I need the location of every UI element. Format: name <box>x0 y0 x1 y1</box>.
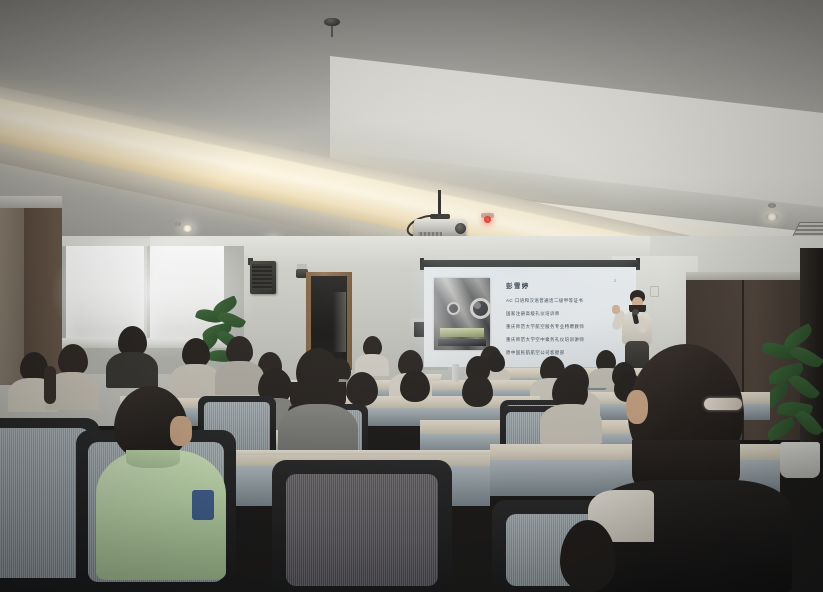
wood-column-cap <box>0 196 62 208</box>
projector-mount-pole <box>438 190 441 216</box>
attendee-head <box>346 372 378 406</box>
attendee-body <box>106 352 158 388</box>
microphone-head-icon <box>632 309 639 315</box>
wood-column-side <box>0 205 24 385</box>
attendee-ear <box>170 416 192 446</box>
attendee-green-polo <box>96 386 226 586</box>
screen-roller-housing <box>422 260 638 267</box>
chair[interactable] <box>272 460 452 592</box>
downlight-icon <box>175 222 181 226</box>
presenter-hand-raised <box>612 305 620 314</box>
sprinkler-icon <box>324 18 340 26</box>
attendee-head <box>462 374 493 407</box>
downlight-icon <box>182 225 193 232</box>
doorway-light <box>333 292 346 352</box>
attendee-head <box>400 370 430 402</box>
speaker-grille-icon <box>252 264 272 290</box>
water-bottle[interactable] <box>452 364 459 382</box>
attendee-ear <box>626 390 648 424</box>
conference-room-photo: 彭雪婷 2 AC 口语和汉语普通话二级甲等证书 国家注册高级礼仪培训师 重庆师范… <box>0 0 823 592</box>
attendee-black-top <box>592 344 792 592</box>
hair-clip <box>704 398 742 410</box>
shirt-logo <box>192 490 214 520</box>
downlight-icon <box>768 203 776 208</box>
projector-lens-icon <box>455 223 466 234</box>
polo-collar <box>126 450 180 468</box>
downlight-icon <box>766 213 778 221</box>
red-indicator-light-icon <box>484 216 491 223</box>
attendee-ponytail <box>44 366 56 404</box>
